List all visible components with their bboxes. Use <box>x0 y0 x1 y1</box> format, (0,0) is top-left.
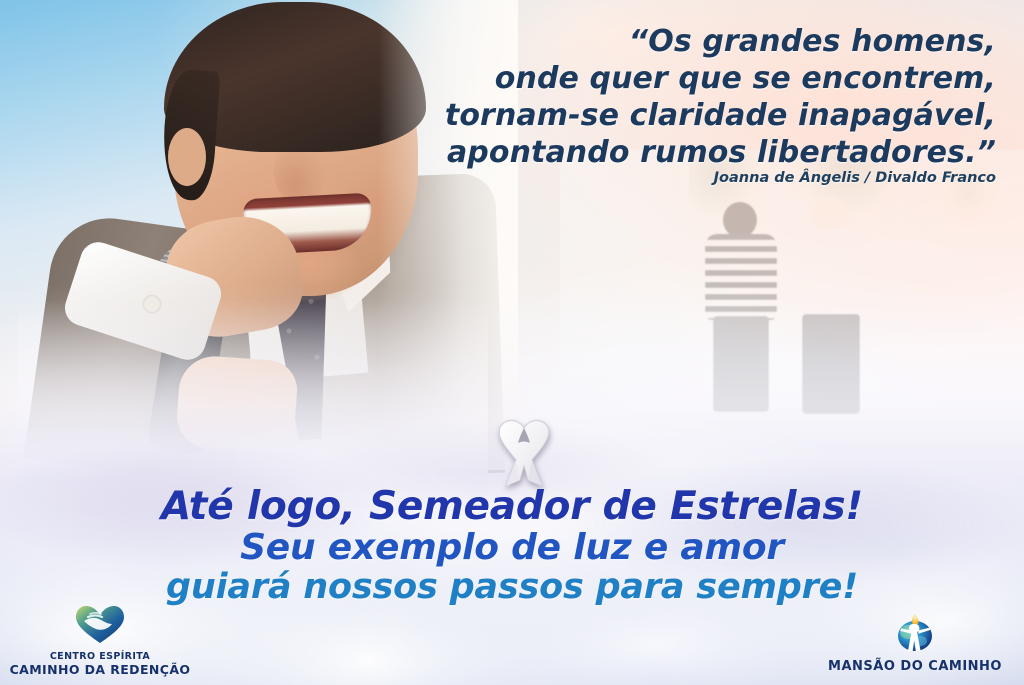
headline-line-2: Seu exemplo de luz e amor <box>0 529 1024 567</box>
mourning-ribbon-icon <box>488 412 560 492</box>
logo-right-line-1: MANSÃO DO CAMINHO <box>810 660 1020 675</box>
memorial-poster: “Os grandes homens, onde quer que se enc… <box>0 0 1024 685</box>
quote-credit: Joanna de Ângelis / Divaldo Franco <box>356 170 996 186</box>
quote-line-4: apontando rumos libertadores.” <box>356 135 996 172</box>
logo-mansao-do-caminho: MANSÃO DO CAMINHO <box>810 611 1020 675</box>
logo-left-line-2: CAMINHO DA REDENÇÃO <box>0 663 200 677</box>
quote-line-3: tornam-se claridade inapagável, <box>356 98 996 135</box>
headline-line-3: guiará nossos passos para sempre! <box>0 569 1024 606</box>
ear-shape <box>168 128 206 186</box>
headline-line-1: Até logo, Semeador de Estrelas! <box>0 486 1024 527</box>
headline-block: Até logo, Semeador de Estrelas! Seu exem… <box>0 486 1024 607</box>
quote-block: “Os grandes homens, onde quer que se enc… <box>356 24 996 172</box>
heart-hands-icon <box>0 605 200 649</box>
logo-centro-espirita: CENTRO ESPÍRITA CAMINHO DA REDENÇÃO <box>0 605 200 677</box>
quote-line-1: “Os grandes homens, <box>356 24 996 61</box>
globe-figure-icon <box>810 611 1020 657</box>
quote-line-2: onde quer que se encontrem, <box>356 61 996 98</box>
